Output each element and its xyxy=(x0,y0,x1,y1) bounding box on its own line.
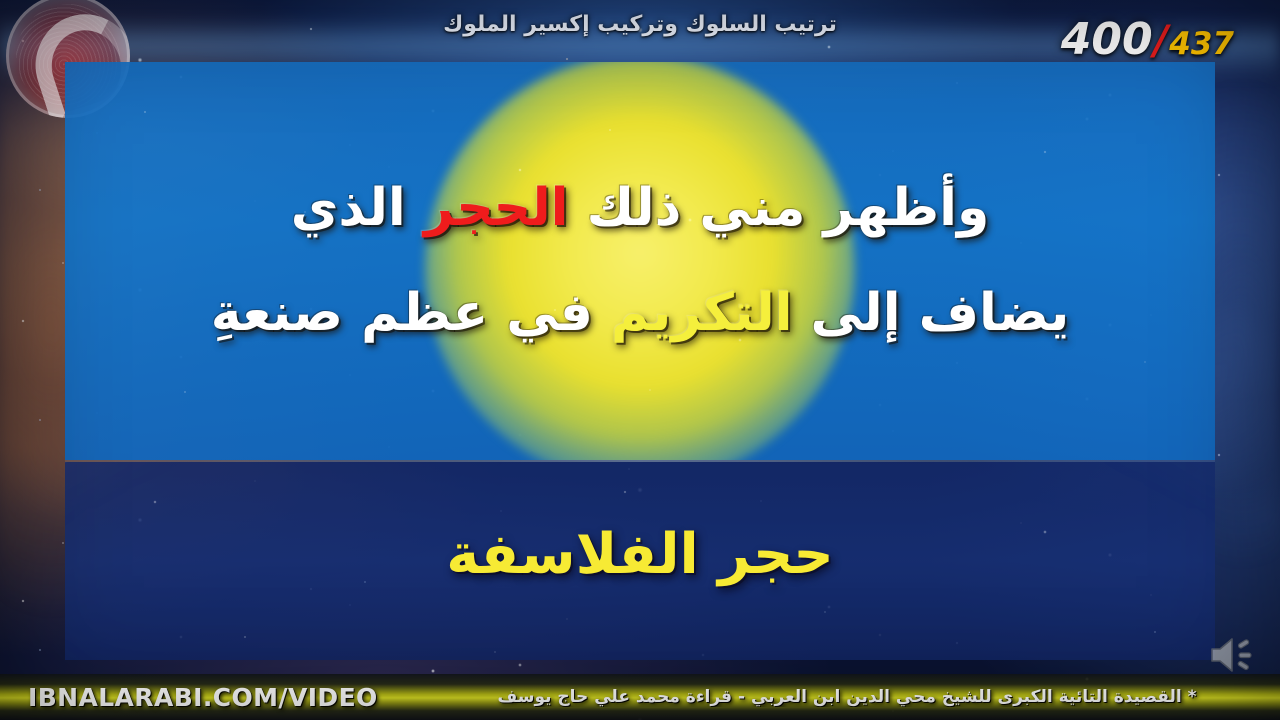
verse-line-2: يضاف إلى التكريم في عظم صنعةِ xyxy=(65,283,1215,344)
verse-line-1: وأظهر مني ذلك الحجر الذي xyxy=(65,178,1215,239)
verse-counter: 400 / 437 xyxy=(1061,18,1234,62)
verse-line-1-after: الذي xyxy=(291,178,424,238)
footer-site-url[interactable]: IBNALARABI.COM/VIDEO xyxy=(28,683,378,712)
speaker-volume-icon[interactable] xyxy=(1206,634,1258,676)
footer-credit-text: * القصيدة التائية الكبرى للشيخ محي الدين… xyxy=(430,687,1264,707)
counter-current: 400 xyxy=(1061,18,1153,62)
verse-line-1-before: وأظهر مني ذلك xyxy=(569,178,990,238)
subtitle-text: حجر الفلاسفة xyxy=(446,522,833,587)
verse-line-2-after: في عظم صنعةِ xyxy=(211,283,611,343)
subtitle-panel: حجر الفلاسفة xyxy=(65,462,1215,660)
footer-bar: IBNALARABI.COM/VIDEO * القصيدة التائية ا… xyxy=(0,674,1280,720)
counter-separator: / xyxy=(1154,21,1169,61)
content-panel: وأظهر مني ذلك الحجر الذي يضاف إلى التكري… xyxy=(65,62,1215,660)
verse-panel: وأظهر مني ذلك الحجر الذي يضاف إلى التكري… xyxy=(65,62,1215,460)
verse-lines: وأظهر مني ذلك الحجر الذي يضاف إلى التكري… xyxy=(65,62,1215,460)
video-slide-stage: ترتيب السلوك وتركيب إكسير الملوك 400 / 4… xyxy=(0,0,1280,720)
counter-total: 437 xyxy=(1169,29,1234,60)
verse-line-2-before: يضاف إلى xyxy=(792,283,1069,343)
verse-line-1-highlight: الحجر xyxy=(424,178,569,238)
verse-line-2-highlight: التكريم xyxy=(611,283,792,343)
